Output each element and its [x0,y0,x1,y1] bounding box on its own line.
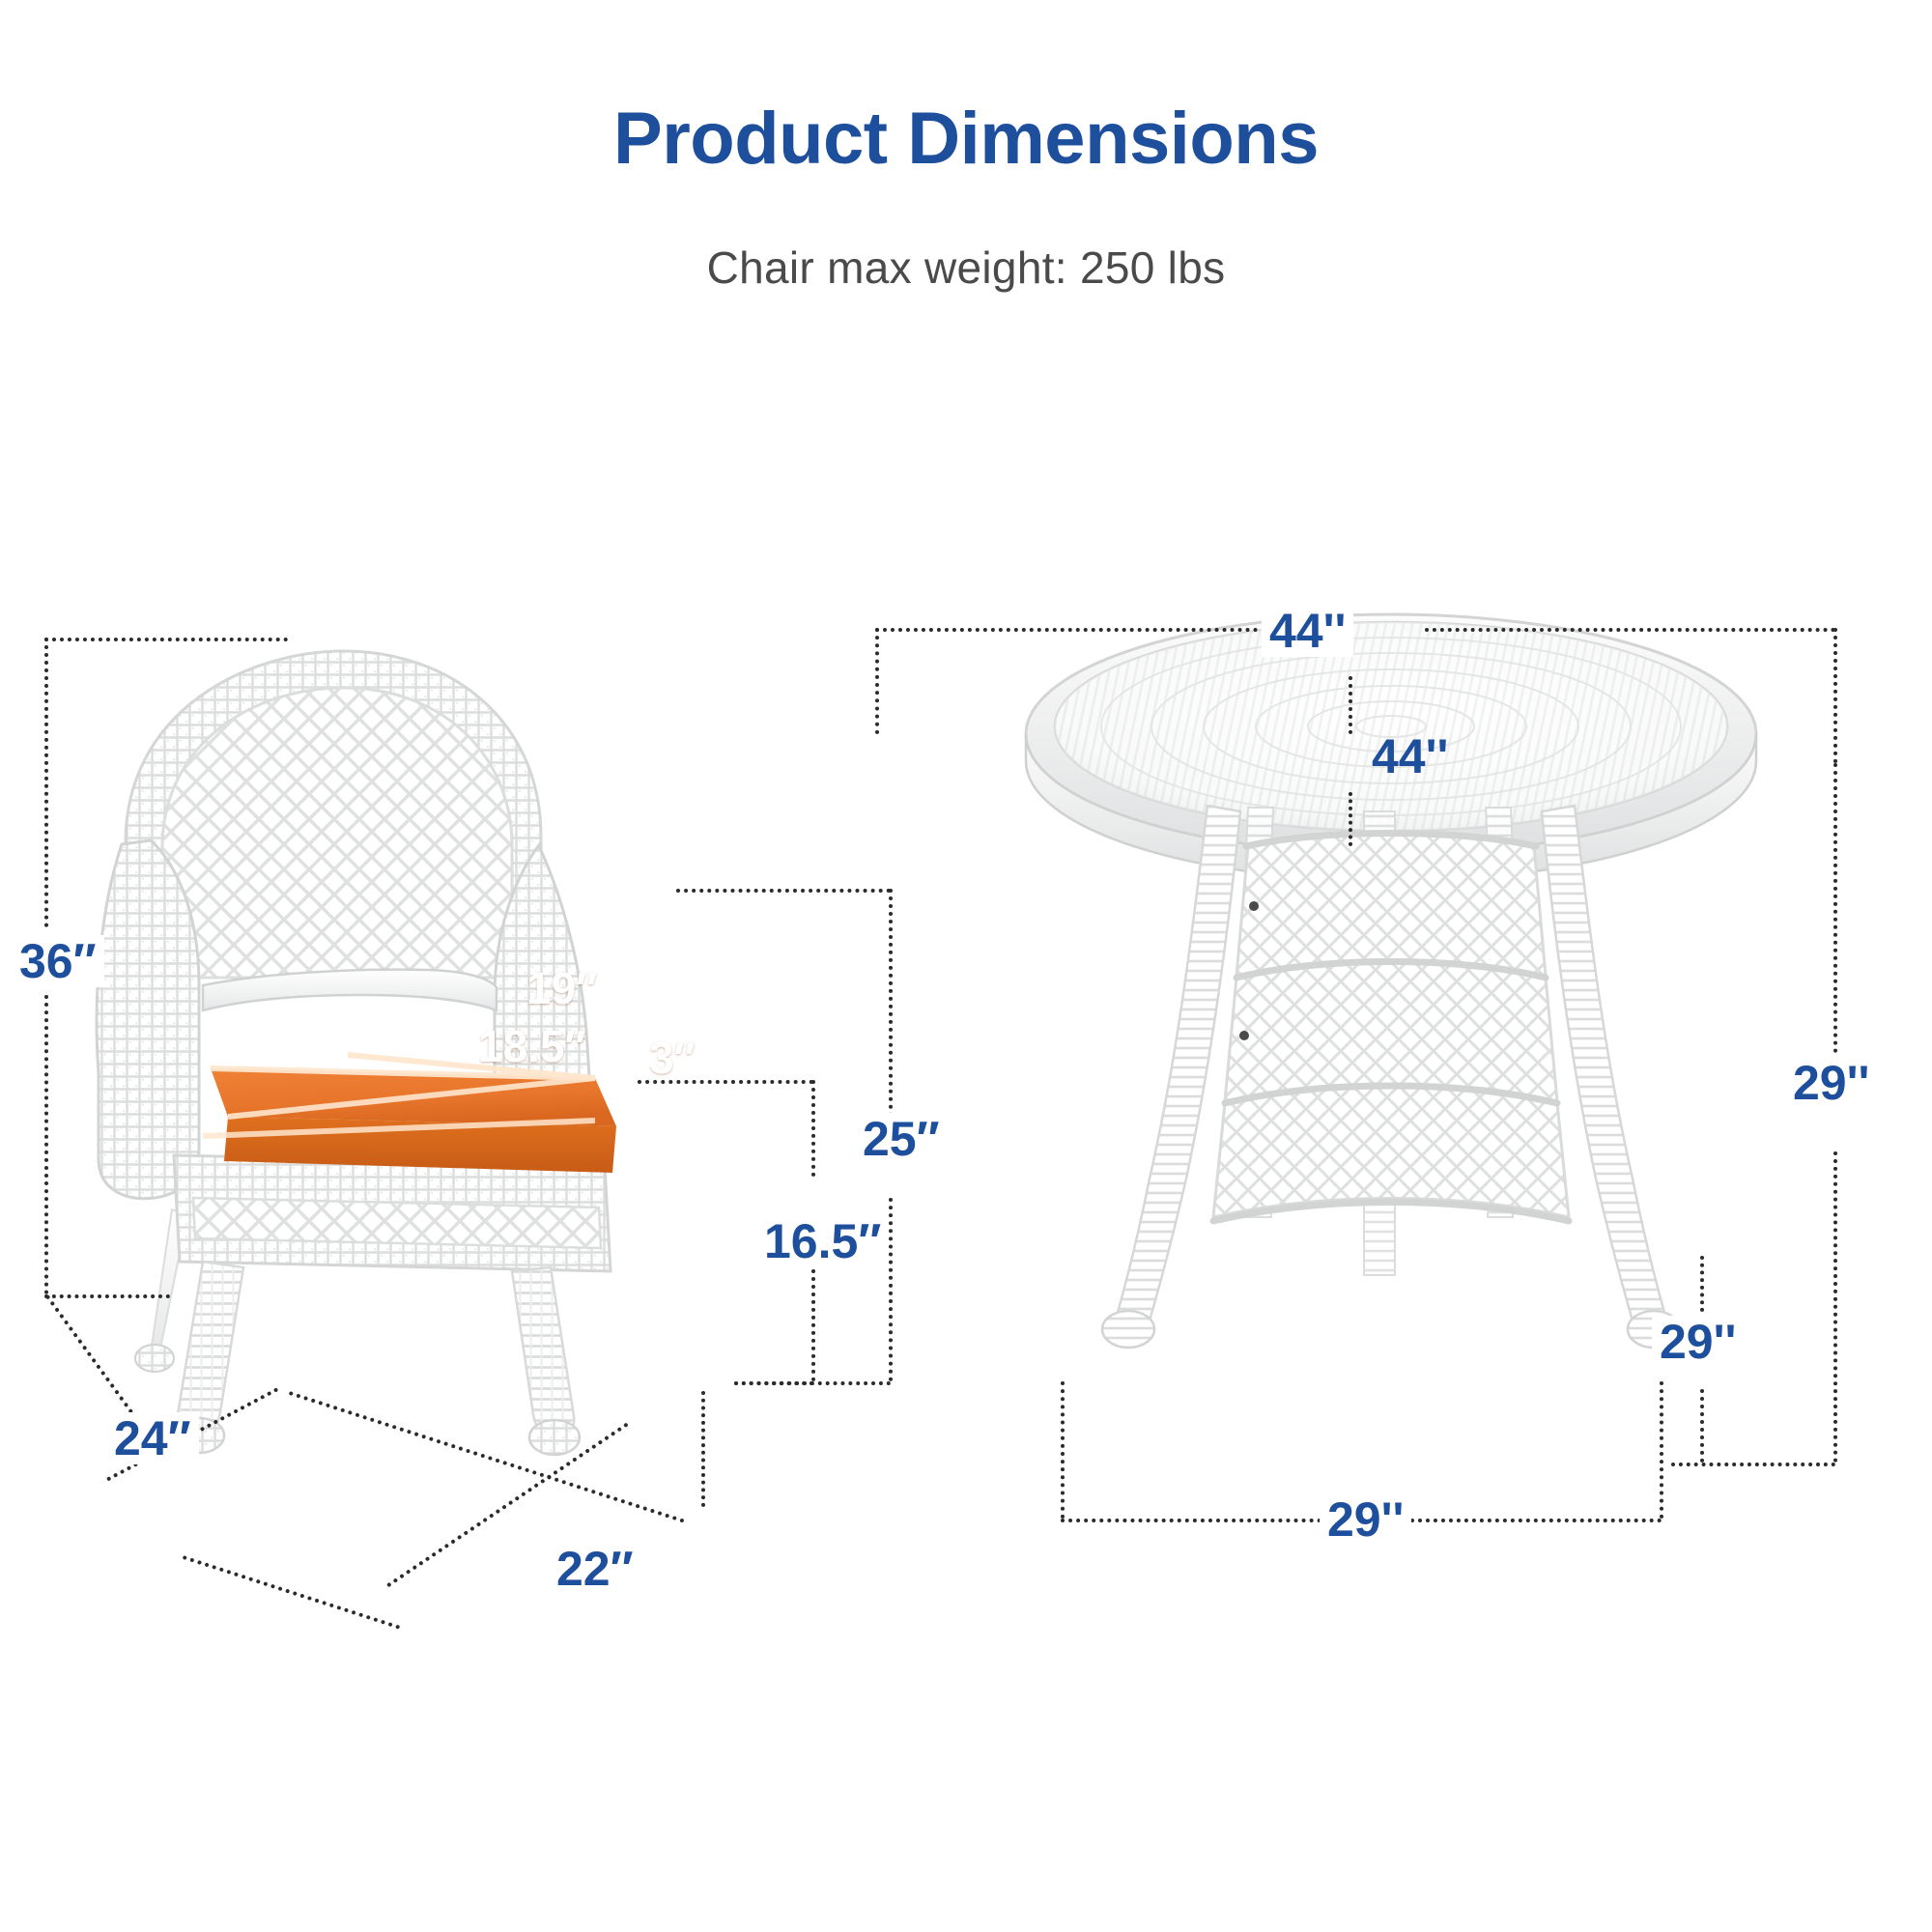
callout-chair-seat-height: 16.5″ [756,1215,889,1267]
callout-table-base-width: 29'' [1320,1493,1411,1546]
table-base-width-line-left [1061,1519,1321,1522]
page-title: Product Dimensions [0,97,1932,181]
table-base-left-tick [1061,1381,1065,1519]
table-top-right-tick [1833,628,1837,763]
table-base-height-upper [1700,1256,1704,1312]
callout-cushion-width: 18.5″ [478,1024,586,1068]
callout-table-base-height: 29'' [1652,1316,1744,1368]
table-height-bottom-line [1671,1463,1835,1466]
callout-table-height: 29'' [1785,1057,1877,1109]
callout-chair-back-height: 25″ [855,1113,948,1165]
page-subtitle: Chair max weight: 250 lbs [0,241,1932,294]
chair-floor-edge-right [701,1391,705,1507]
table-top-left-tick [875,628,879,734]
chair-seat-height-line [811,1080,815,1177]
table-top-line-left [875,628,1258,632]
table-height-line-lower [1833,1151,1837,1463]
callout-chair-depth: 24″ [106,1412,199,1464]
callout-cushion-depth: 19″ [526,966,597,1010]
chair-height-line-bottom [44,1294,170,1298]
table-inner-tick-b [1349,792,1352,846]
chair-floor-edge-left [183,1555,401,1630]
chair-height-line-upper [44,638,48,927]
callout-chair-height: 36″ [12,935,104,987]
chair-back-height-line-b [889,1198,893,1381]
table-height-line-upper [1833,763,1837,1053]
callout-table-top-diameter: 44'' [1262,605,1353,657]
callout-chair-width: 22″ [549,1543,641,1595]
chair-back-height-line [889,889,893,1140]
table-top-line-right [1425,628,1835,632]
chair-illustration [58,618,715,1488]
chair-height-line-lower [44,995,48,1294]
table-base-right-tick [1660,1381,1663,1519]
table-base-height-lower [1700,1389,1704,1463]
table-base-width-line-right [1403,1519,1662,1522]
chair-seat-height-bottom [734,1381,813,1385]
callout-cushion-thickness: 3″ [649,1036,696,1080]
table-inner-tick [1349,676,1352,734]
callout-table-top-inner: 44'' [1364,730,1456,782]
product-dimensions-diagram: Product Dimensions Chair max weight: 250… [0,0,1932,1932]
chair-back-height-top [676,889,891,893]
chair-height-line-top [44,638,288,641]
